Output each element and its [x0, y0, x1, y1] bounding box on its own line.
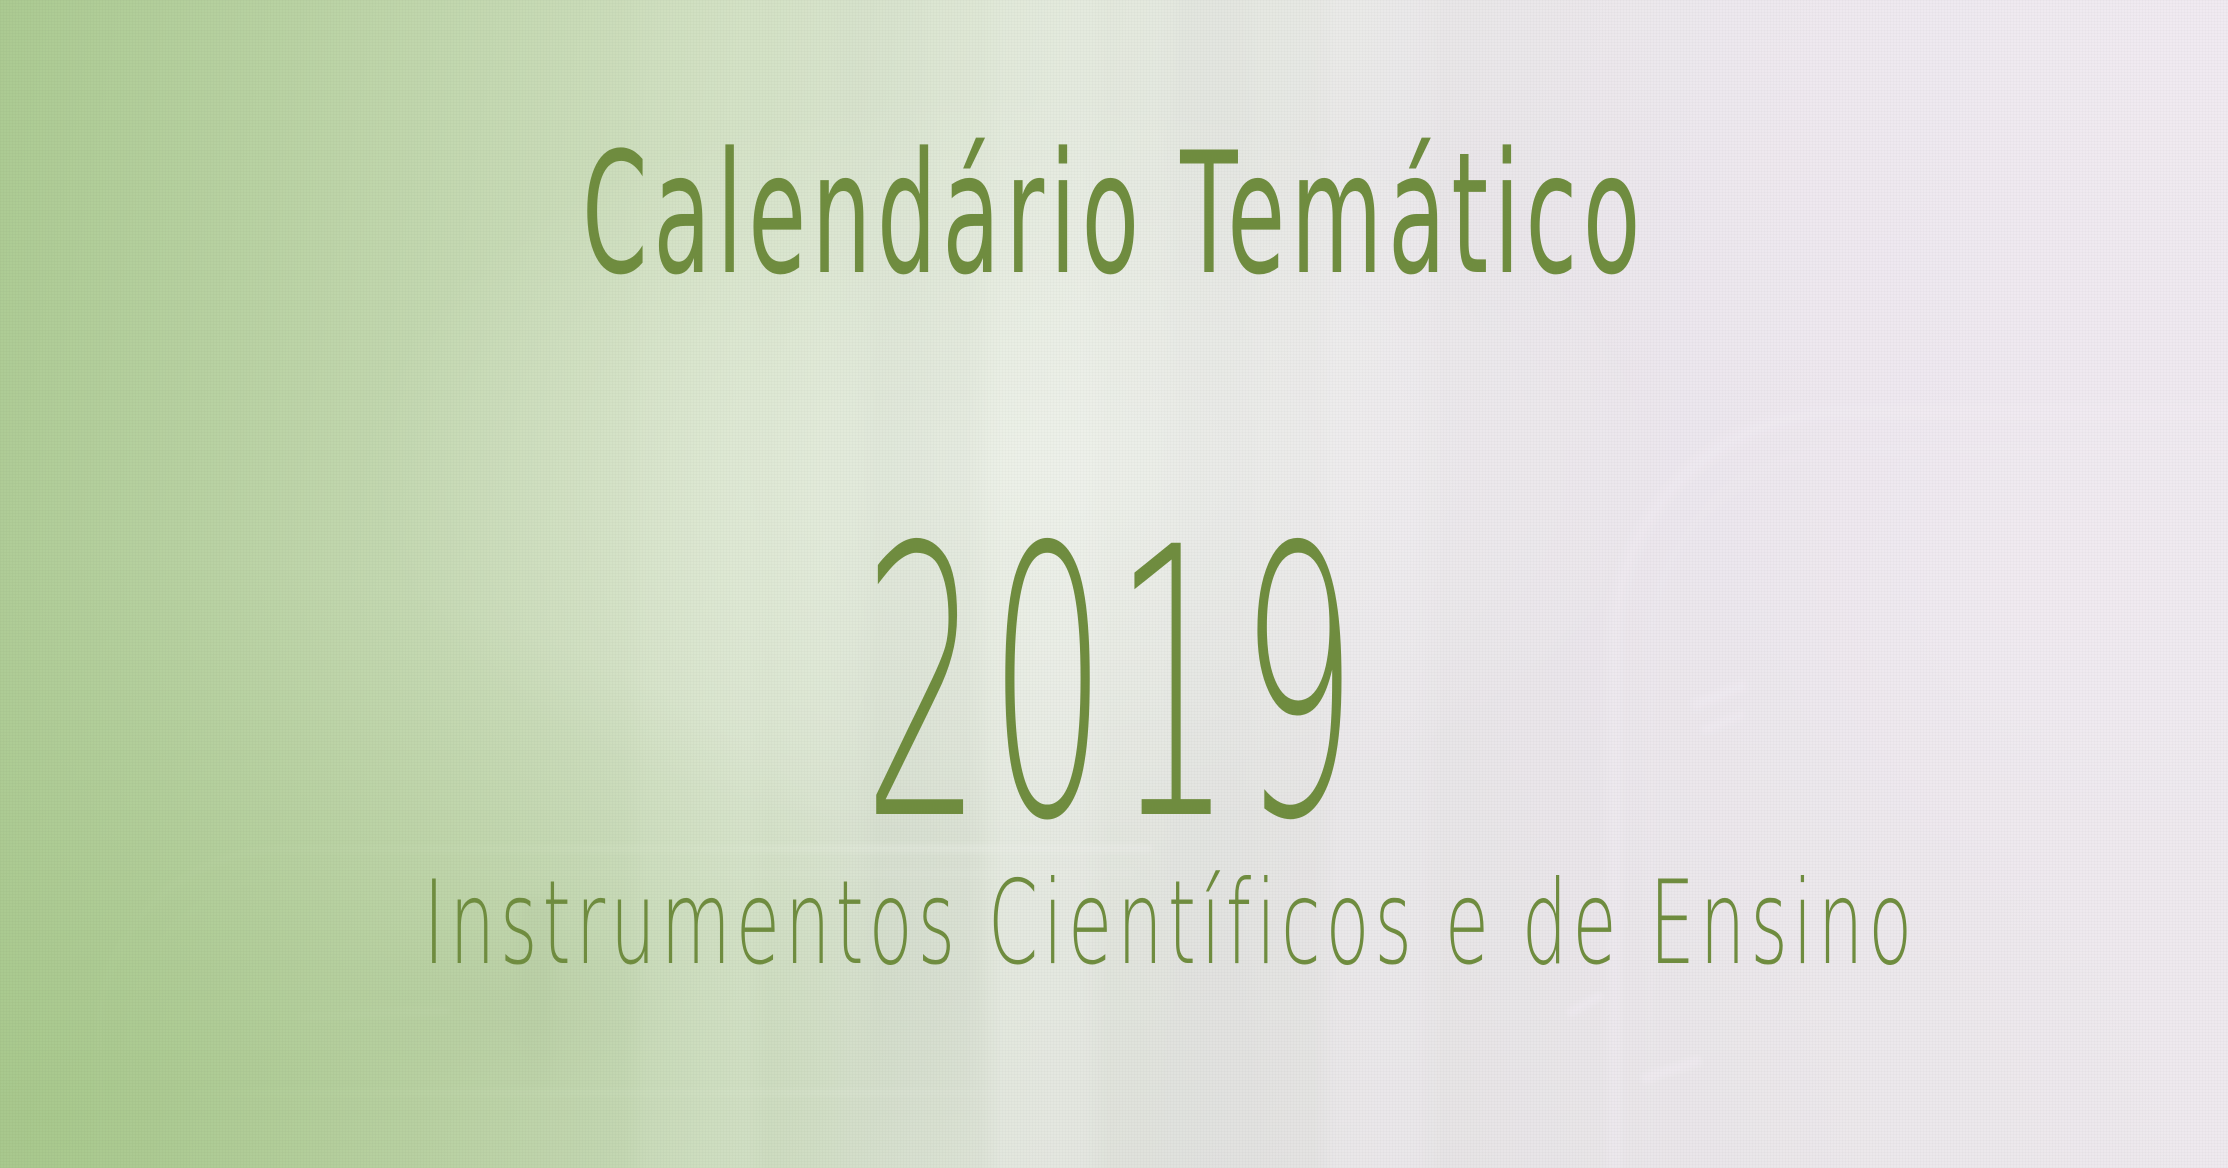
cover-year: 2019: [557, 500, 1671, 872]
calendar-cover: Calendário Temático 2019 Instrumentos Ci…: [0, 0, 2228, 1168]
cover-title: Calendário Temático: [490, 130, 1738, 298]
cover-text-block: Calendário Temático 2019 Instrumentos Ci…: [0, 0, 2228, 1168]
cover-subtitle: Instrumentos Científicos e de Ensino: [423, 866, 1804, 982]
